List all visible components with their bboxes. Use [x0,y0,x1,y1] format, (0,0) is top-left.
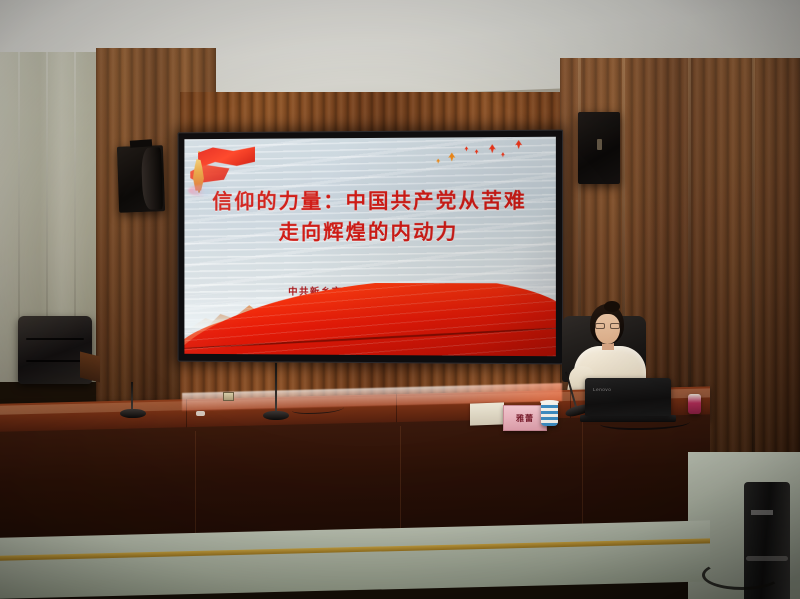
presenter-face [595,314,620,344]
slide-surface: 信仰的力量：中国共产党从苦难 走向辉煌的内动力 中共新乡市委党校 傅雅蕾 [184,137,555,357]
conference-room-photo: 信仰的力量：中国共产党从苦难 走向辉煌的内动力 中共新乡市委党校 傅雅蕾 [0,0,800,599]
microphone-left[interactable] [120,382,146,418]
flying-geese-icon [430,140,541,171]
wall-speaker-left-icon [117,145,165,213]
microphone-center[interactable] [263,362,291,420]
equipment-base-ring [702,560,782,590]
wall-outlet-plate[interactable] [223,392,234,401]
office-chair-left[interactable] [14,316,100,402]
presenter-hair-bun [604,301,620,312]
slide-title-line-2: 走向辉煌的内动力 [184,217,555,249]
document-sheet[interactable] [470,402,504,425]
led-display-screen[interactable]: 信仰的力量：中国共产党从苦难 走向辉煌的内动力 中共新乡市委党校 傅雅蕾 [178,130,563,365]
water-bottle[interactable] [688,394,701,414]
laptop[interactable]: Lenovo [585,378,671,416]
wall-speaker-right-icon [578,112,620,184]
laptop-brand-logo: Lenovo [593,387,611,392]
slide-title: 信仰的力量：中国共产党从苦难 走向辉煌的内动力 [184,185,555,248]
paper-cup[interactable] [541,402,558,426]
desk-small-object[interactable] [196,411,205,416]
glasses-icon [595,323,620,329]
red-wave-banner-graphic [184,283,555,357]
slide-title-line-1: 信仰的力量：中国共产党从苦难 [212,188,527,213]
nameplate-label: 雅蕾 [516,413,534,424]
